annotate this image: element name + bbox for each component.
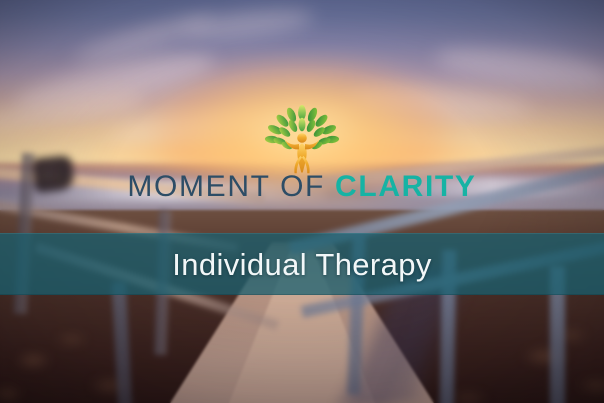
- page-title-banner: Individual Therapy: [0, 233, 604, 295]
- tree-of-life-logo-icon: [264, 102, 340, 174]
- wordmark-bold-text: CLARITY: [335, 170, 477, 203]
- wordmark-space: [325, 170, 335, 203]
- brand-wordmark: MOMENT OF CLARITY: [0, 172, 604, 202]
- hero-banner: MOMENT OF CLARITY Individual Therapy: [0, 0, 604, 403]
- wordmark-light-text: MOMENT OF: [127, 170, 325, 203]
- page-title: Individual Therapy: [172, 249, 431, 280]
